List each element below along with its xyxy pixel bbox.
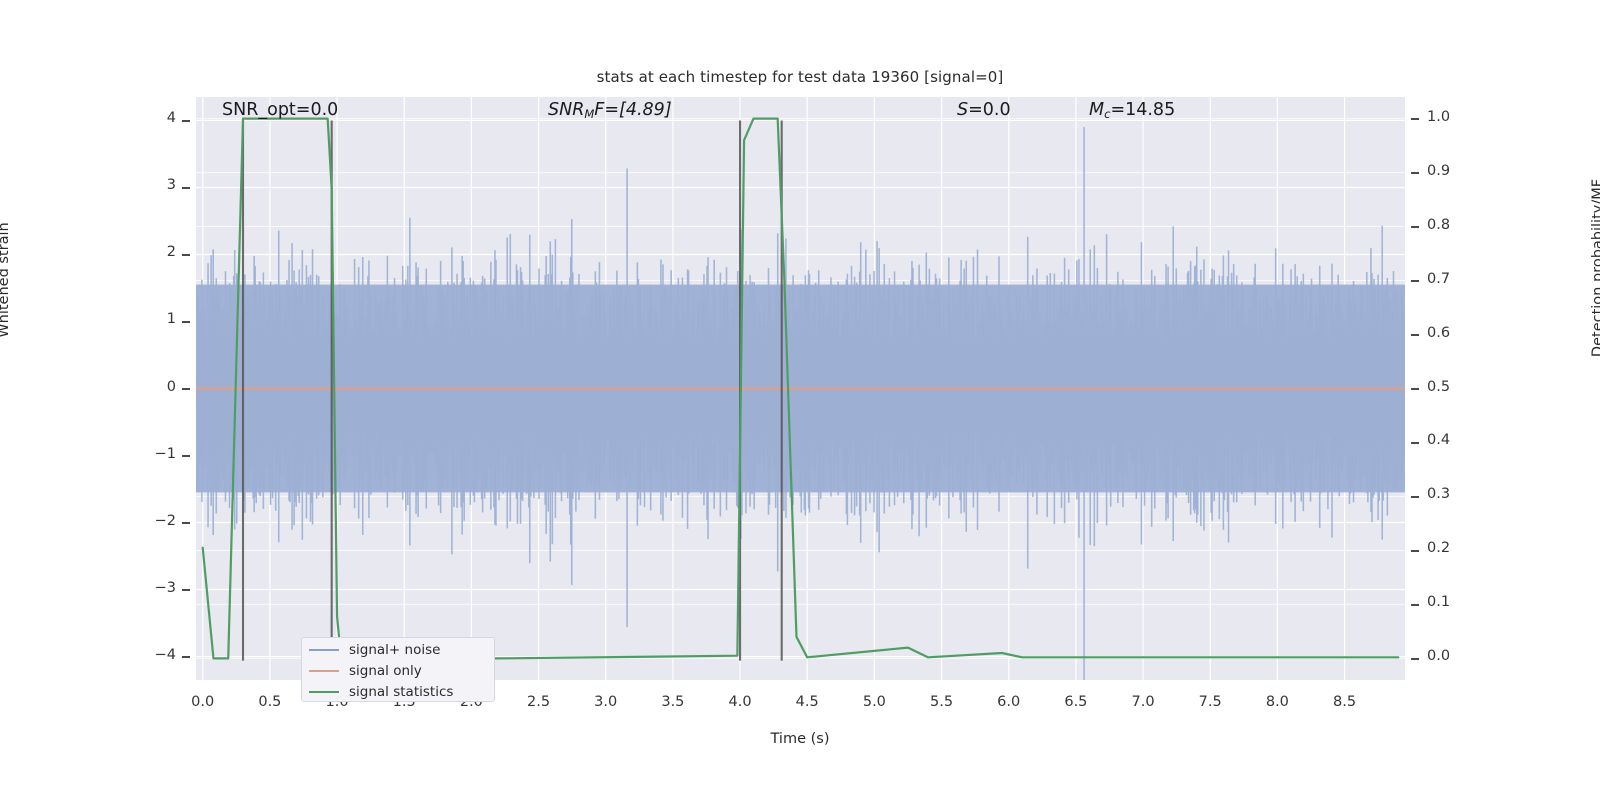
axis-tick-label: 3.5 (647, 694, 699, 710)
annotation-s: S=0.0 (957, 100, 1011, 120)
axis-tick-mark (182, 187, 190, 189)
axis-tick-label: 0.1 (1427, 594, 1475, 610)
legend-swatch-signal-only (309, 670, 339, 672)
axis-tick-label: 0.2 (1427, 540, 1475, 556)
plot-axes (196, 97, 1405, 680)
legend-label-signal-statistics: signal statistics (349, 684, 453, 700)
legend[interactable]: signal+ noise signal only signal statist… (301, 637, 495, 702)
axis-tick-label: 8.5 (1319, 694, 1371, 710)
axis-tick-label: 0.4 (1427, 432, 1475, 448)
axis-tick-mark (182, 522, 190, 524)
axis-tick-mark (1411, 226, 1419, 228)
legend-item[interactable]: signal+ noise (302, 639, 494, 660)
axis-tick-mark (182, 656, 190, 658)
axis-tick-mark (1411, 280, 1419, 282)
axis-tick-label: 0 (136, 379, 176, 395)
axis-tick-mark (1411, 172, 1419, 174)
annotation-s-symbol: S (957, 100, 968, 120)
legend-label-signal-only: signal only (349, 663, 422, 679)
annotation-mc: Mc=14.85 (1089, 100, 1175, 121)
axis-tick-label: 5.0 (848, 694, 900, 710)
annotation-mc-symbol: M (1089, 100, 1104, 120)
axis-tick-mark (182, 455, 190, 457)
axis-tick-mark (1411, 604, 1419, 606)
y-axis-right-label: Detection probability/MF (1590, 138, 1600, 398)
axis-tick-label: 0.3 (1427, 486, 1475, 502)
axis-tick-label: 0.9 (1427, 163, 1475, 179)
plot-svg (196, 97, 1405, 680)
axis-tick-mark (1411, 118, 1419, 120)
axis-tick-label: 0.5 (244, 694, 296, 710)
figure-title: stats at each timestep for test data 193… (0, 68, 1600, 86)
annotation-mc-value: =14.85 (1110, 100, 1175, 120)
annotation-s-value: =0.0 (968, 100, 1011, 120)
axis-tick-mark (1411, 388, 1419, 390)
axis-tick-label: 3.0 (580, 694, 632, 710)
axis-tick-mark (1411, 334, 1419, 336)
axis-tick-label: 1 (136, 311, 176, 327)
axis-tick-label: 5.5 (916, 694, 968, 710)
axis-tick-label: 7.0 (1117, 694, 1169, 710)
axis-tick-mark (1411, 550, 1419, 552)
y-axis-left-label: Whitened strain (0, 150, 12, 410)
axis-tick-label: 4.0 (714, 694, 766, 710)
annotation-snr-mf: SNRMF=[4.89] (548, 100, 672, 121)
signal-noise-trace (196, 127, 1405, 680)
axis-tick-label: 2 (136, 244, 176, 260)
axis-tick-label: −1 (136, 446, 176, 462)
axis-tick-label: 8.0 (1251, 694, 1303, 710)
legend-item[interactable]: signal statistics (302, 681, 494, 702)
annotation-snr-mf-prefix: SNR (548, 100, 584, 120)
axis-tick-label: 6.5 (1050, 694, 1102, 710)
axis-tick-label: 6.0 (983, 694, 1035, 710)
axis-tick-label: 4 (136, 110, 176, 126)
annotation-snr-opt-text: SNR_opt=0.0 (222, 100, 338, 120)
axis-tick-label: −2 (136, 513, 176, 529)
legend-swatch-signal-statistics (309, 691, 339, 693)
axis-tick-mark (182, 589, 190, 591)
axis-tick-label: 0.0 (177, 694, 229, 710)
axis-tick-mark (1411, 496, 1419, 498)
annotation-snr-mf-rest: F=[4.89] (594, 100, 671, 120)
x-axis-label: Time (s) (0, 731, 1600, 747)
axis-tick-label: −3 (136, 580, 176, 596)
axis-tick-label: 1.0 (1427, 109, 1475, 125)
annotation-snr-opt: SNR_opt=0.0 (222, 100, 338, 120)
axis-tick-label: 0.8 (1427, 217, 1475, 233)
axis-tick-label: 7.5 (1184, 694, 1236, 710)
axis-tick-label: 0.6 (1427, 325, 1475, 341)
axis-tick-mark (182, 388, 190, 390)
legend-swatch-signal-noise (309, 649, 339, 651)
axis-tick-mark (182, 321, 190, 323)
axis-tick-mark (1411, 658, 1419, 660)
legend-item[interactable]: signal only (302, 660, 494, 681)
axis-tick-mark (182, 120, 190, 122)
axis-tick-label: 4.5 (781, 694, 833, 710)
axis-tick-mark (1411, 442, 1419, 444)
figure-canvas: stats at each timestep for test data 193… (0, 0, 1600, 800)
annotation-snr-mf-sub: M (584, 107, 594, 121)
axis-tick-mark (182, 254, 190, 256)
axis-tick-label: 0.5 (1427, 379, 1475, 395)
axis-tick-label: 0.0 (1427, 648, 1475, 664)
axis-tick-label: 0.7 (1427, 271, 1475, 287)
axis-tick-label: −4 (136, 647, 176, 663)
axis-tick-label: 3 (136, 177, 176, 193)
axis-tick-label: 2.5 (513, 694, 565, 710)
legend-label-signal-noise: signal+ noise (349, 642, 440, 658)
